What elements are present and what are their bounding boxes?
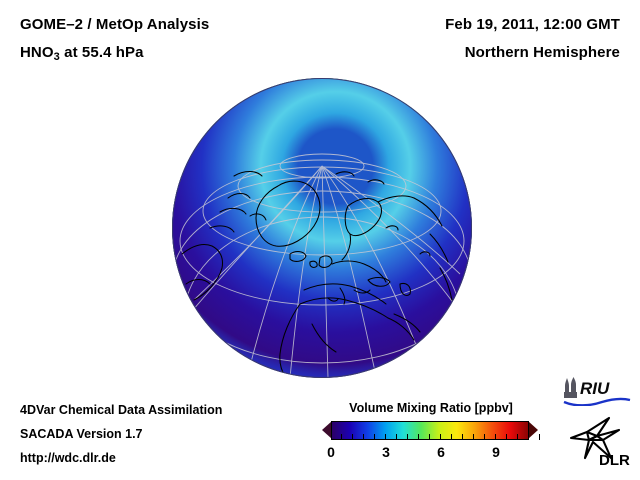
riu-wave-icon — [564, 399, 630, 405]
species-formula-prefix: HNO — [20, 44, 54, 61]
dlr-logo: DLR — [565, 414, 633, 468]
colorbar-title: Volume Mixing Ratio [ppbv] — [331, 401, 531, 415]
riu-wordmark: RIU — [580, 379, 610, 398]
footer-url-label: http://wdc.dlr.de — [20, 451, 116, 465]
colorbar-gradient — [331, 421, 529, 440]
globe-outline — [172, 78, 472, 378]
timestamp-label: Feb 19, 2011, 12:00 GMT — [445, 16, 620, 33]
footer-version-label: SACADA Version 1.7 — [20, 427, 143, 441]
colorbar-tick-label: 9 — [492, 444, 500, 460]
footer-method-label: 4DVar Chemical Data Assimilation — [20, 403, 222, 417]
page-title-instrument: GOME–2 / MetOp Analysis — [20, 16, 209, 33]
page-title-species: HNO3 at 55.4 hPa — [20, 44, 144, 63]
colorbar-tick-label: 3 — [382, 444, 390, 460]
riu-logo: RIU — [560, 376, 632, 406]
riu-cathedral-icon — [564, 377, 577, 398]
dlr-wordmark: DLR — [599, 452, 630, 468]
colorbar-tick-label: 6 — [437, 444, 445, 460]
colorbar-tick-labels: 0369 — [322, 444, 538, 464]
colorbar — [322, 421, 538, 440]
colorbar-tick-label: 0 — [327, 444, 335, 460]
species-pressure-level: at 55.4 hPa — [60, 44, 144, 61]
colorbar-ticks — [341, 434, 539, 441]
hemisphere-label: Northern Hemisphere — [465, 44, 620, 61]
globe-visualization — [172, 78, 472, 378]
